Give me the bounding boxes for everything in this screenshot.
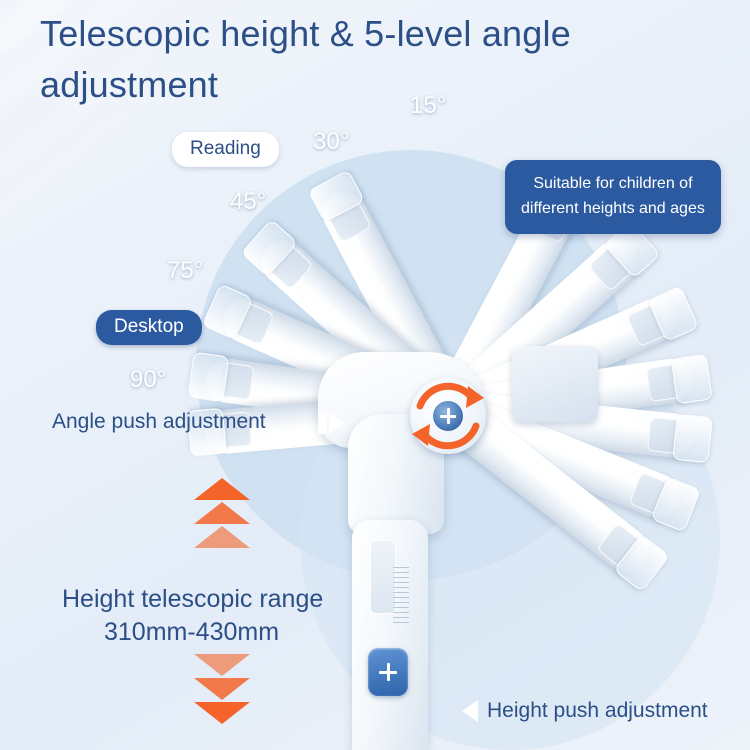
scale-ticks xyxy=(393,567,409,627)
caption-angle-push: Angle push adjustment xyxy=(52,410,266,434)
arm-clip xyxy=(672,414,713,464)
badge-desktop: Desktop xyxy=(96,310,202,345)
chevron-up-icon xyxy=(194,502,250,524)
angle-label-15: 15° xyxy=(410,92,446,120)
angle-label-45: 45° xyxy=(230,188,266,216)
chevron-down-icon xyxy=(194,702,250,724)
badge-reading: Reading xyxy=(172,132,279,167)
chevron-up-icon xyxy=(194,526,250,548)
chevron-down-icon xyxy=(194,678,250,700)
callout-suitable: Suitable for children of different heigh… xyxy=(505,160,721,234)
caption-height-range-label: Height telescopic range xyxy=(62,585,323,614)
callout-line-2: different heights and ages xyxy=(521,197,705,222)
chevron-up-icon xyxy=(194,478,250,500)
rotation-arrows-icon xyxy=(402,370,494,462)
height-scale-slot xyxy=(370,540,396,614)
pointer-right-icon xyxy=(329,412,345,434)
arm-clip xyxy=(187,352,229,403)
pointer-bar xyxy=(318,412,327,434)
chevron-down-stack xyxy=(194,654,250,726)
page-title: Telescopic height & 5-level angle adjust… xyxy=(40,8,730,110)
hinge-bracket xyxy=(512,346,598,422)
caption-height-range-value: 310mm-430mm xyxy=(104,618,279,647)
telescopic-column xyxy=(352,520,428,750)
product-infographic: Telescopic height & 5-level angle adjust… xyxy=(0,0,750,750)
arm-clip xyxy=(671,354,713,405)
plus-button-icon[interactable] xyxy=(368,648,408,696)
chevron-down-icon xyxy=(194,654,250,676)
angle-label-90: 90° xyxy=(130,366,166,394)
pointer-left-icon xyxy=(462,700,478,722)
callout-line-1: Suitable for children of xyxy=(521,172,705,197)
angle-label-75: 75° xyxy=(167,257,203,285)
angle-label-30: 30° xyxy=(313,128,349,156)
chevron-up-stack xyxy=(194,478,250,550)
caption-height-push: Height push adjustment xyxy=(487,699,708,723)
